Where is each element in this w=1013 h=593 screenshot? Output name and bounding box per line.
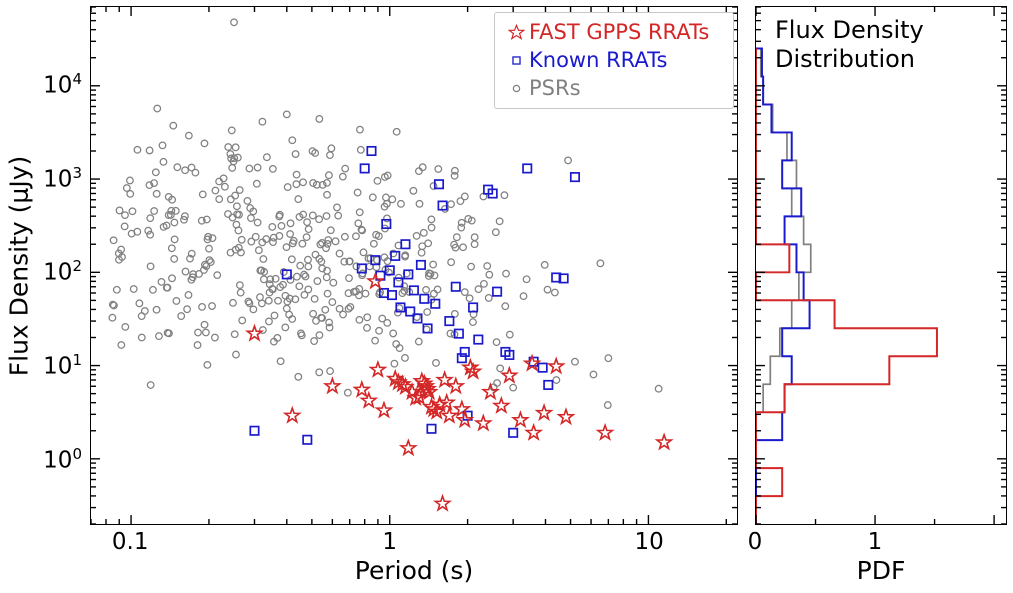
legend: FAST GPPS RRATs Known RRATs PSRs — [494, 12, 734, 109]
histogram-title-line2: Distribution — [775, 45, 924, 74]
histogram-panel — [755, 6, 1007, 525]
legend-item-gpps-rrats: FAST GPPS RRATs — [503, 18, 725, 46]
legend-label-gpps-rrats: FAST GPPS RRATs — [529, 22, 709, 43]
histogram-title-line1: Flux Density — [775, 16, 924, 45]
x-tick-label: 10 — [604, 529, 694, 555]
y-tick-label: 101 — [12, 351, 82, 380]
legend-label-psrs: PSRs — [529, 78, 581, 99]
circle-icon — [503, 82, 529, 95]
y-tick-label: 104 — [12, 70, 82, 99]
pdf-axis-title: PDF — [755, 556, 1007, 585]
y-tick-label: 102 — [12, 257, 82, 286]
histogram-plot-area — [756, 7, 1006, 524]
x-tick-label: 0.1 — [85, 529, 175, 555]
square-icon — [503, 54, 529, 67]
legend-label-known-rrats: Known RRATs — [529, 50, 667, 71]
pdf-tick-label: 0 — [710, 529, 800, 555]
figure-root: Flux Density (μJy) 100101102103104 0.111… — [0, 0, 1013, 593]
pdf-tick-label: 1 — [830, 529, 920, 555]
legend-item-known-rrats: Known RRATs — [503, 46, 725, 74]
y-tick-label: 103 — [12, 164, 82, 193]
histogram-canvas — [756, 7, 1006, 524]
x-axis-title: Period (s) — [90, 556, 738, 585]
x-tick-label: 1 — [345, 529, 435, 555]
y-tick-label: 100 — [12, 445, 82, 474]
histogram-title: Flux Density Distribution — [775, 16, 924, 74]
star-icon — [503, 24, 529, 41]
legend-item-psrs: PSRs — [503, 74, 725, 102]
